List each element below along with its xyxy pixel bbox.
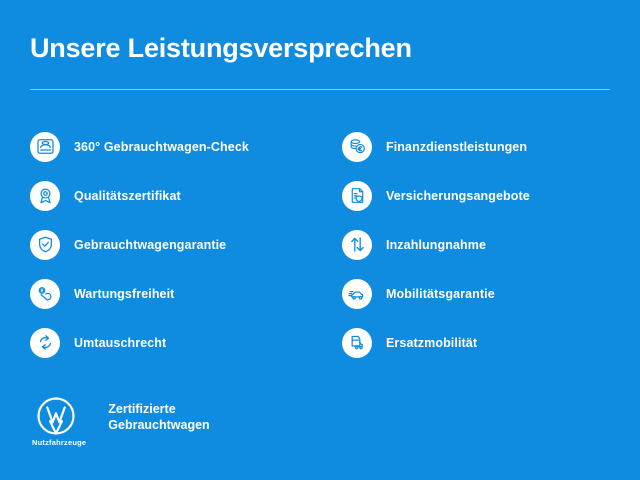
list-item-label: Finanzdienstleistungen [386,140,527,154]
list-item-label: Umtauschrecht [74,336,166,350]
exchange-arrows-icon [30,328,60,358]
list-item-label: Wartungsfreiheit [74,287,174,301]
list-item-label: Versicherungsangebote [386,189,530,203]
list-item: Versicherungsangebote [342,171,610,220]
vw-brand-block: Nutzfahrzeuge [32,396,86,447]
car-mobility-icon [342,279,372,309]
list-item-label: Qualitätszertifikat [74,189,181,203]
document-shield-icon [342,181,372,211]
list-item: 360° Gebrauchtwagen-Check [30,122,298,171]
benefits-columns: 360° Gebrauchtwagen-Check Qualitätszerti… [30,122,610,367]
benefits-column-right: Finanzdienstleistungen Versicherungsange… [342,122,610,367]
list-item: Qualitätszertifikat [30,171,298,220]
list-item-label: 360° Gebrauchtwagen-Check [74,140,249,154]
page-title: Unsere Leistungsversprechen [30,33,412,64]
list-item-label: Gebrauchtwagengarantie [74,238,226,252]
list-item-label: Mobilitätsgarantie [386,287,495,301]
list-item-label: Inzahlungnahme [386,238,486,252]
list-item: Gebrauchtwagengarantie [30,220,298,269]
coins-euro-icon [342,132,372,162]
two-cars-icon [342,328,372,358]
shield-check-icon [30,230,60,260]
slide-root: Unsere Leistungsversprechen 360° Gebrauc… [0,0,640,480]
list-item: Wartungsfreiheit [30,269,298,318]
car-check-360-icon [30,132,60,162]
list-item: Mobilitätsgarantie [342,269,610,318]
footer: Nutzfahrzeuge Zertifizierte Gebrauchtwag… [32,396,210,447]
footer-text: Zertifizierte Gebrauchtwagen [108,401,209,443]
list-item: Ersatzmobilität [342,318,610,367]
list-item: Inzahlungnahme [342,220,610,269]
vw-logo-caption: Nutzfahrzeuge [32,438,86,447]
list-item: Finanzdienstleistungen [342,122,610,171]
quality-seal-icon [30,181,60,211]
list-item-label: Ersatzmobilität [386,336,477,350]
vw-logo-icon [32,396,80,436]
benefits-column-left: 360° Gebrauchtwagen-Check Qualitätszerti… [30,122,298,367]
title-divider [30,89,610,90]
wrench-gear-icon [30,279,60,309]
arrows-up-down-icon [342,230,372,260]
list-item: Umtauschrecht [30,318,298,367]
